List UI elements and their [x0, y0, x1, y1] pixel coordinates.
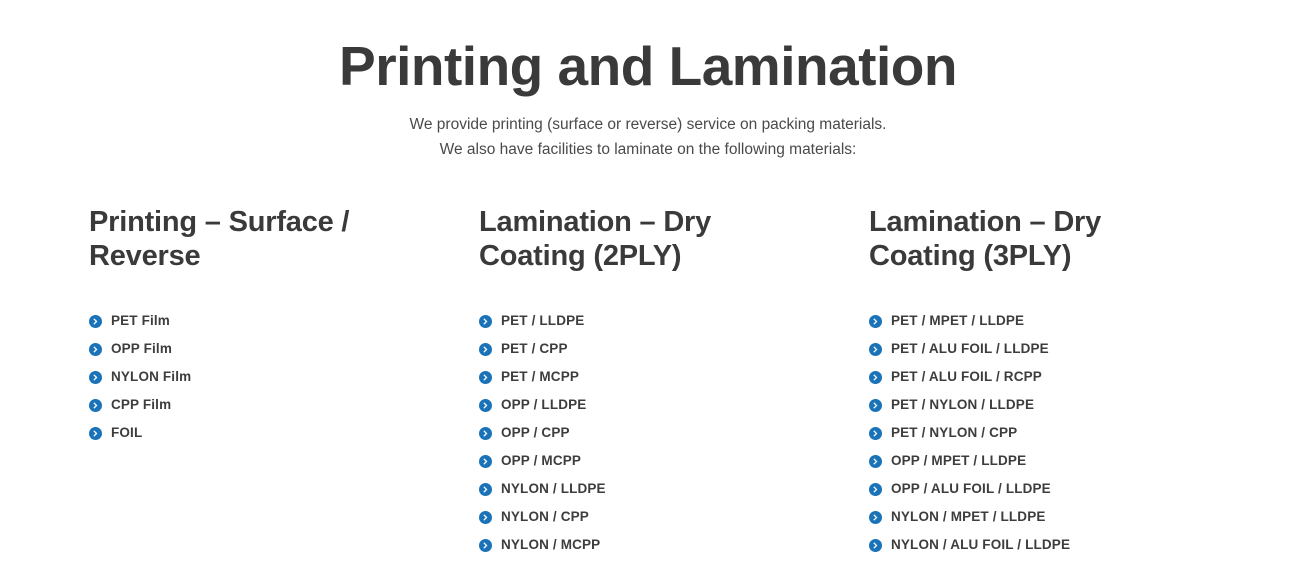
page-header: Printing and Lamination We provide print…	[0, 0, 1296, 162]
circle-chevron-right-icon	[869, 399, 882, 412]
list-item-label: NYLON / MCPP	[501, 536, 600, 554]
list-item-label: PET / NYLON / CPP	[891, 424, 1017, 442]
list-item[interactable]: PET / ALU FOIL / RCPP	[869, 363, 1259, 391]
circle-chevron-right-icon	[869, 483, 882, 496]
list-item-label: OPP / LLDPE	[501, 396, 586, 414]
circle-chevron-right-icon	[479, 343, 492, 356]
column-title: Lamination – Dry Coating (3PLY)	[869, 205, 1169, 273]
circle-chevron-right-icon	[479, 483, 492, 496]
circle-chevron-right-icon	[869, 315, 882, 328]
column-list: PET / MPET / LLDPE PET / ALU FOIL / LLDP…	[869, 307, 1259, 559]
circle-chevron-right-icon	[89, 315, 102, 328]
list-item-label: OPP / CPP	[501, 424, 570, 442]
list-item[interactable]: OPP / CPP	[479, 419, 869, 447]
column-title: Lamination – Dry Coating (2PLY)	[479, 205, 779, 273]
circle-chevron-right-icon	[479, 399, 492, 412]
circle-chevron-right-icon	[869, 455, 882, 468]
column-lamination-2ply: Lamination – Dry Coating (2PLY) PET / LL…	[479, 205, 869, 559]
list-item[interactable]: NYLON / MPET / LLDPE	[869, 503, 1259, 531]
circle-chevron-right-icon	[869, 539, 882, 552]
circle-chevron-right-icon	[869, 343, 882, 356]
list-item-label: OPP / MPET / LLDPE	[891, 452, 1026, 470]
printing-lamination-page: Printing and Lamination We provide print…	[0, 0, 1296, 581]
list-item-label: PET Film	[111, 312, 170, 330]
list-item-label: FOIL	[111, 424, 142, 442]
page-title: Printing and Lamination	[0, 34, 1296, 98]
circle-chevron-right-icon	[89, 399, 102, 412]
list-item[interactable]: PET / ALU FOIL / LLDPE	[869, 335, 1259, 363]
subtitle-line-1: We provide printing (surface or reverse)…	[0, 112, 1296, 137]
list-item-label: PET / MPET / LLDPE	[891, 312, 1024, 330]
list-item[interactable]: FOIL	[89, 419, 479, 447]
list-item-label: NYLON / LLDPE	[501, 480, 606, 498]
column-lamination-3ply: Lamination – Dry Coating (3PLY) PET / MP…	[869, 205, 1259, 559]
list-item-label: NYLON / MPET / LLDPE	[891, 508, 1046, 526]
circle-chevron-right-icon	[869, 371, 882, 384]
list-item[interactable]: PET Film	[89, 307, 479, 335]
list-item[interactable]: PET / LLDPE	[479, 307, 869, 335]
list-item[interactable]: NYLON / LLDPE	[479, 475, 869, 503]
circle-chevron-right-icon	[869, 511, 882, 524]
list-item-label: OPP / MCPP	[501, 452, 581, 470]
list-item-label: OPP Film	[111, 340, 172, 358]
list-item-label: NYLON / ALU FOIL / LLDPE	[891, 536, 1070, 554]
circle-chevron-right-icon	[479, 371, 492, 384]
list-item[interactable]: CPP Film	[89, 391, 479, 419]
list-item-label: PET / ALU FOIL / LLDPE	[891, 340, 1049, 358]
list-item[interactable]: PET / NYLON / LLDPE	[869, 391, 1259, 419]
list-item[interactable]: PET / MCPP	[479, 363, 869, 391]
column-printing-surface-reverse: Printing – Surface / Reverse PET Film OP…	[89, 205, 479, 447]
list-item-label: PET / CPP	[501, 340, 568, 358]
list-item[interactable]: OPP / MCPP	[479, 447, 869, 475]
list-item-label: PET / ALU FOIL / RCPP	[891, 368, 1042, 386]
column-list: PET / LLDPE PET / CPP PET / MCPP OPP / L…	[479, 307, 869, 559]
circle-chevron-right-icon	[89, 427, 102, 440]
circle-chevron-right-icon	[479, 455, 492, 468]
circle-chevron-right-icon	[479, 427, 492, 440]
list-item-label: PET / MCPP	[501, 368, 579, 386]
subtitle-line-2: We also have facilities to laminate on t…	[0, 137, 1296, 162]
list-item[interactable]: OPP / MPET / LLDPE	[869, 447, 1259, 475]
list-item[interactable]: OPP / ALU FOIL / LLDPE	[869, 475, 1259, 503]
list-item[interactable]: NYLON Film	[89, 363, 479, 391]
page-subtitle: We provide printing (surface or reverse)…	[0, 112, 1296, 162]
list-item[interactable]: NYLON / ALU FOIL / LLDPE	[869, 531, 1259, 559]
list-item-label: CPP Film	[111, 396, 171, 414]
circle-chevron-right-icon	[479, 511, 492, 524]
list-item-label: NYLON / CPP	[501, 508, 589, 526]
list-item[interactable]: OPP Film	[89, 335, 479, 363]
list-item-label: OPP / ALU FOIL / LLDPE	[891, 480, 1051, 498]
list-item-label: PET / LLDPE	[501, 312, 584, 330]
circle-chevron-right-icon	[89, 371, 102, 384]
circle-chevron-right-icon	[479, 315, 492, 328]
list-item[interactable]: NYLON / MCPP	[479, 531, 869, 559]
material-columns: Printing – Surface / Reverse PET Film OP…	[0, 205, 1296, 559]
column-title: Printing – Surface / Reverse	[89, 205, 389, 273]
circle-chevron-right-icon	[479, 539, 492, 552]
list-item[interactable]: NYLON / CPP	[479, 503, 869, 531]
circle-chevron-right-icon	[89, 343, 102, 356]
list-item[interactable]: PET / CPP	[479, 335, 869, 363]
list-item[interactable]: OPP / LLDPE	[479, 391, 869, 419]
list-item[interactable]: PET / NYLON / CPP	[869, 419, 1259, 447]
list-item[interactable]: PET / MPET / LLDPE	[869, 307, 1259, 335]
circle-chevron-right-icon	[869, 427, 882, 440]
list-item-label: PET / NYLON / LLDPE	[891, 396, 1034, 414]
column-list: PET Film OPP Film NYLON Film CPP Film FO…	[89, 307, 479, 447]
list-item-label: NYLON Film	[111, 368, 191, 386]
